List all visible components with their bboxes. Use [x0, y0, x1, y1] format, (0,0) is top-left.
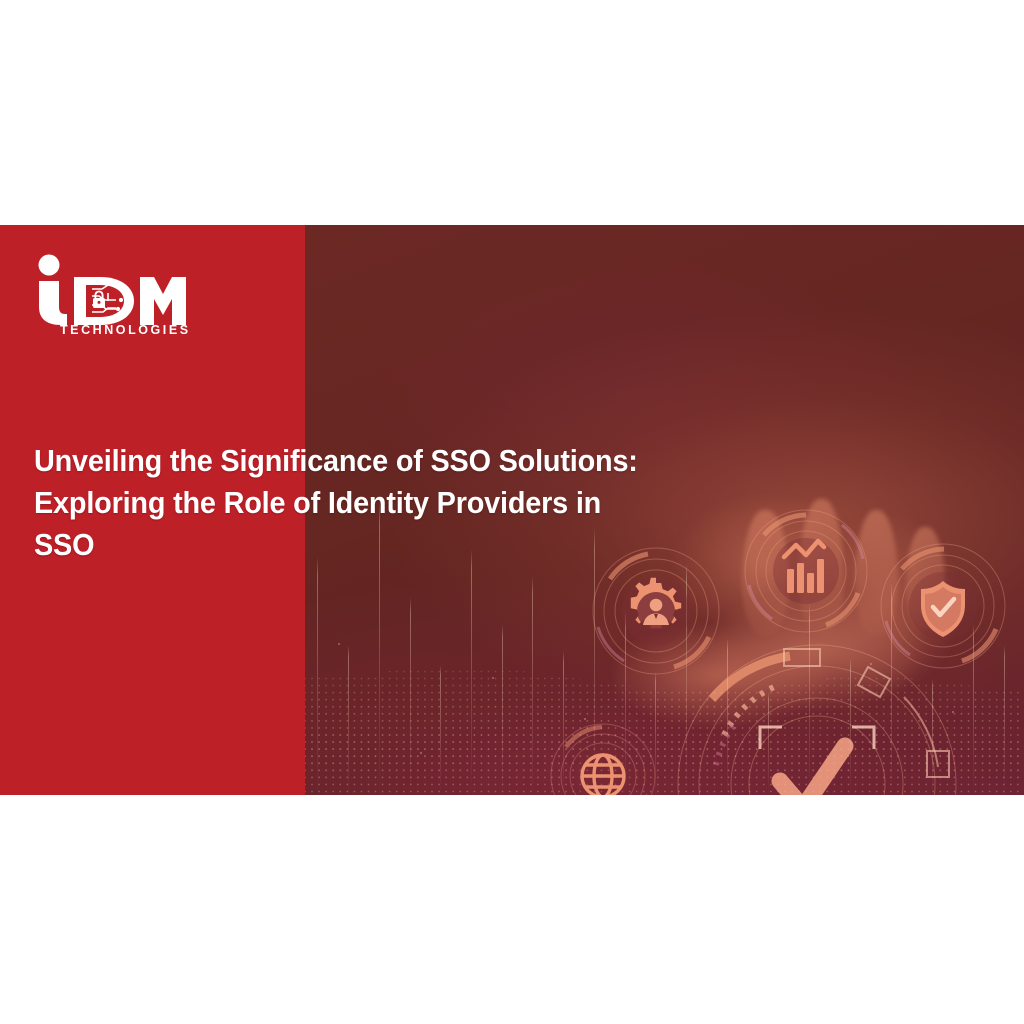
- logo-letter-m: [140, 277, 186, 325]
- idm-technologies-logo[interactable]: TECHNOLOGIES: [30, 253, 192, 337]
- page-title-line-2: Exploring the Role of Identity Providers…: [34, 485, 601, 520]
- logo-letter-i-stem: [39, 281, 67, 325]
- logo-letter-i-dot: [39, 255, 60, 276]
- screenshot-canvas: TECHNOLOGIES Unveiling the Significance …: [0, 0, 1024, 1024]
- logo-tagline-text: TECHNOLOGIES: [60, 323, 191, 337]
- page-title-line-3: SSO: [34, 527, 94, 562]
- blog-hero-banner: TECHNOLOGIES Unveiling the Significance …: [0, 225, 1024, 795]
- bar-chart-badge: [742, 507, 870, 635]
- logo-tagline: TECHNOLOGIES: [60, 323, 191, 337]
- page-title: Unveiling the Significance of SSO Soluti…: [34, 440, 713, 566]
- page-title-line-1: Unveiling the Significance of SSO Soluti…: [34, 443, 638, 478]
- shield-check-badge: [878, 541, 1008, 671]
- globe-badge: [548, 721, 658, 795]
- logo-mark: TECHNOLOGIES: [30, 253, 192, 337]
